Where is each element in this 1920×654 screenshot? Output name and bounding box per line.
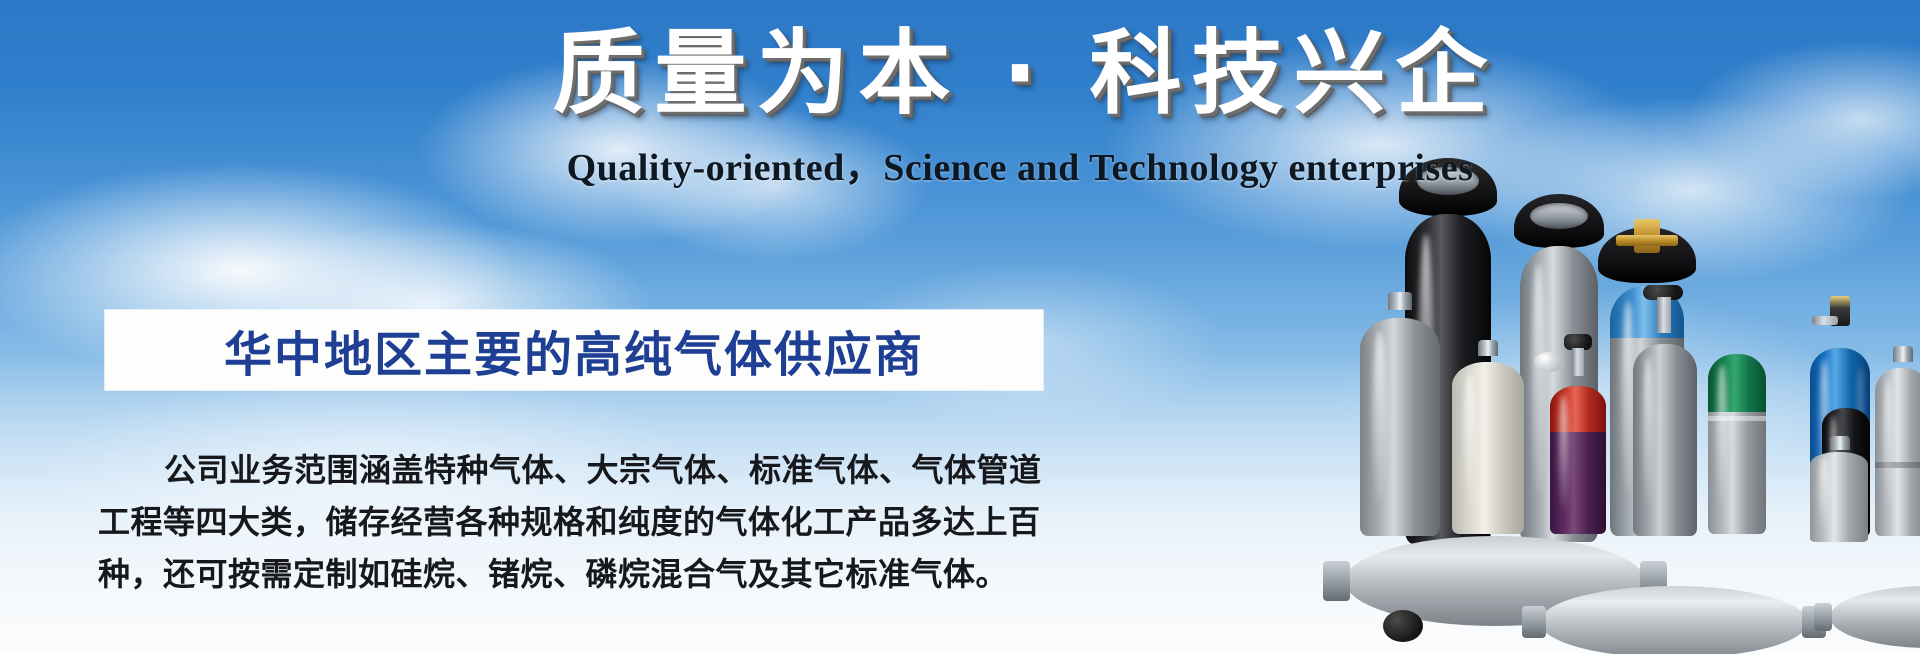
description-line-1: 公司业务范围涵盖特种气体、大宗气体、标准气体、气体管道	[98, 445, 1058, 497]
description-line-2: 工程等四大类，储存经营各种规格和纯度的气体化工产品多达上百	[98, 497, 1058, 549]
valve-knob-icon	[1383, 610, 1423, 642]
grey-lying-cylinder-large	[1345, 536, 1645, 626]
black-tall-cylinder	[1405, 192, 1491, 544]
grey-lying-cylinder-right	[1830, 586, 1920, 648]
black-small-cylinder	[1822, 408, 1870, 536]
grey-knob-valve-cylinder	[1633, 331, 1697, 536]
blue-gloss-cylinder	[1810, 334, 1870, 534]
cream-white-cylinder	[1452, 352, 1524, 534]
highlight-box-text: 华中地区主要的高纯气体供应商	[224, 315, 924, 385]
grey-lying-cylinder-small	[1540, 586, 1808, 654]
valve-cap-icon	[1830, 296, 1850, 326]
cylinder-neck	[1388, 292, 1412, 310]
description-line-3: 种，还可按需定制如硅烷、锗烷、磷烷混合气及其它标准气体。	[98, 549, 1058, 601]
light-grey-cylinder	[1360, 306, 1440, 536]
banner-headline: 质量为本 · 科技兴企	[0, 22, 1920, 125]
brass-valve-icon	[1634, 219, 1660, 253]
valve-knob-icon	[1564, 334, 1592, 350]
cloud-decoration	[1240, 250, 1920, 530]
banner-description: 公司业务范围涵盖特种气体、大宗气体、标准气体、气体管道 工程等四大类，储存经营各…	[98, 445, 1058, 600]
cylinder-valve-guard	[1598, 227, 1696, 283]
pressure-gauge-icon	[1534, 352, 1564, 372]
green-shoulder-cylinder	[1708, 354, 1766, 534]
grey-tall-cylinder	[1520, 224, 1598, 542]
aluminium-cylinder-short	[1810, 446, 1868, 542]
aluminium-cylinder-tall	[1875, 358, 1920, 536]
highlight-box: 华中地区主要的高纯气体供应商	[105, 310, 1043, 390]
banner-subtitle: Quality-oriented，Science and Technology …	[0, 136, 1920, 191]
red-purple-cylinder	[1550, 374, 1606, 534]
cylinder-valve-guard	[1514, 194, 1604, 248]
promotional-banner: 质量为本 · 科技兴企 Quality-oriented，Science and…	[0, 0, 1920, 654]
blue-grey-valve-cylinder	[1610, 271, 1684, 536]
valve-knob-icon	[1643, 285, 1683, 300]
